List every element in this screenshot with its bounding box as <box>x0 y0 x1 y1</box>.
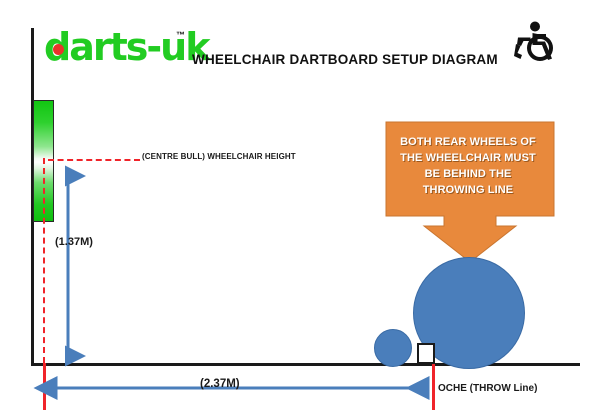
diagram-canvas: darts-uk ™ WHEELCHAIR DARTBOARD SETUP DI… <box>0 0 600 420</box>
bull-height-label: (CENTRE BULL) WHEELCHAIR HEIGHT <box>142 152 296 161</box>
oche-label: OCHE (THROW Line) <box>438 383 537 394</box>
callout-text: BOTH REAR WHEELS OF THE WHEELCHAIR MUST … <box>386 134 550 198</box>
callout-line-2: THE WHEELCHAIR MUST <box>386 150 550 166</box>
callout-line-3: BE BEHIND THE <box>386 166 550 182</box>
callout-line-1: BOTH REAR WHEELS OF <box>386 134 550 150</box>
height-dimension-label: (1.37M) <box>55 236 93 248</box>
distance-dimension-label: (2.37M) <box>200 378 240 390</box>
front-caster-wheel <box>374 329 412 367</box>
footplate-marker <box>417 343 435 364</box>
callout-line-4: THROWING LINE <box>386 182 550 198</box>
